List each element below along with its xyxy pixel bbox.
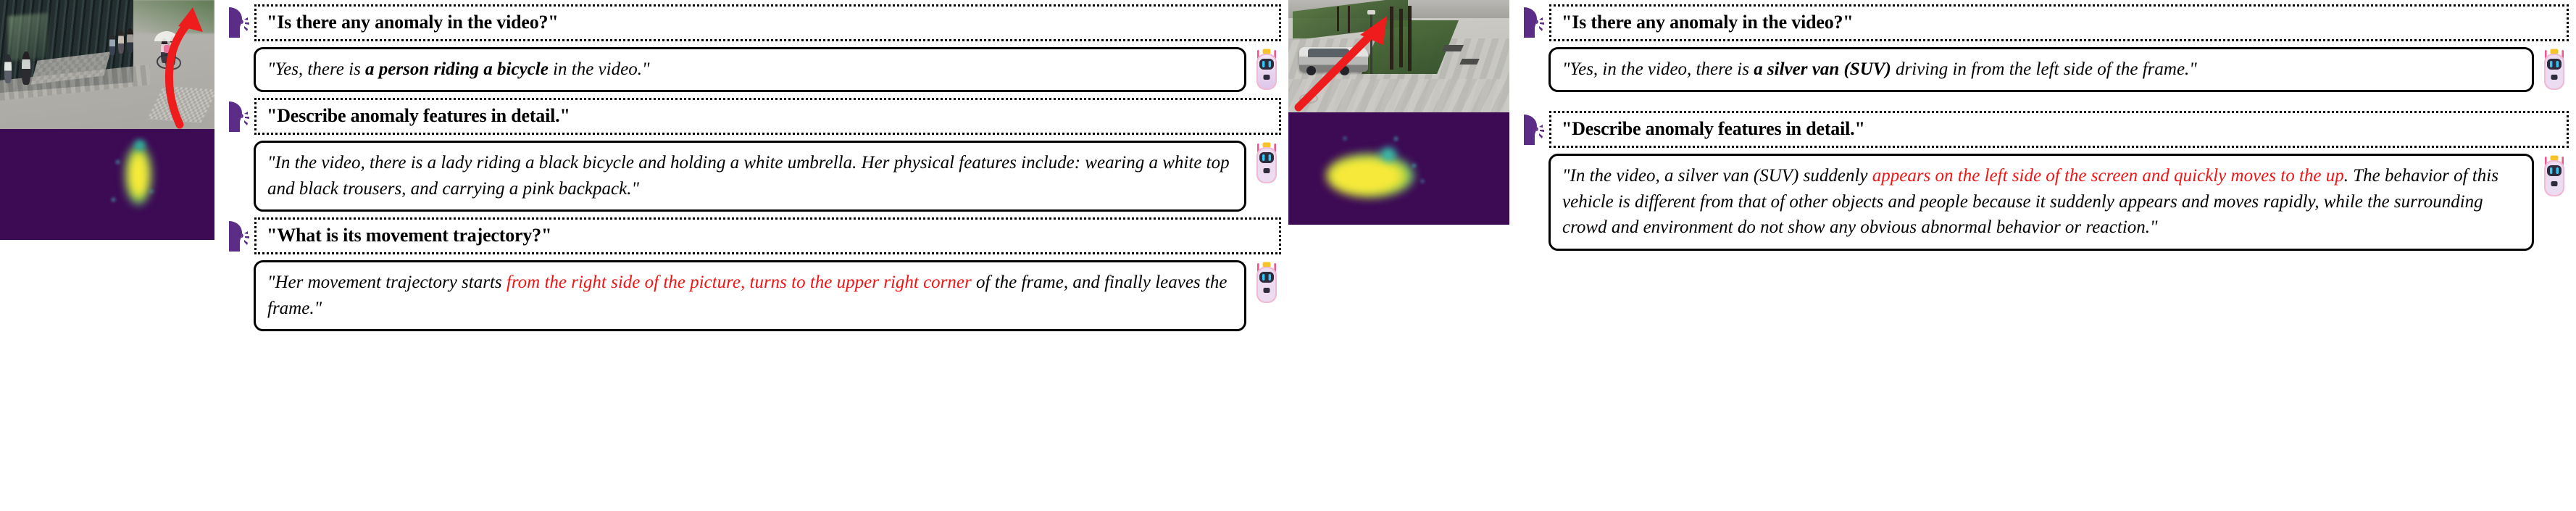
pedestrian xyxy=(118,30,124,54)
silver-suv xyxy=(1299,47,1368,72)
pink-backpack xyxy=(164,45,170,53)
answer-text-plain: "In the video, a silver van (SUV) sudden… xyxy=(1562,166,1872,186)
scene-sky xyxy=(129,0,214,33)
question-bubble[interactable]: "Is there any anomaly in the video?" xyxy=(1549,4,2569,41)
conversation-left: "Is there any anomaly in the video?" "Ye… xyxy=(214,0,1288,331)
robot-icon xyxy=(2540,47,2569,92)
robot-icon xyxy=(2540,154,2569,199)
tree-trunk xyxy=(1348,6,1350,33)
video-frame-left xyxy=(0,0,214,129)
answer-text-highlight: appears on the left side of the screen a… xyxy=(1872,166,2344,186)
bench xyxy=(1441,45,1463,51)
heatmap-secondary-spot xyxy=(1379,146,1398,162)
scene-kerb-pattern xyxy=(147,86,214,123)
speaking-head-icon xyxy=(225,6,249,39)
question-bubble[interactable]: "Describe anomaly features in detail." xyxy=(1549,111,2569,148)
pedestrian xyxy=(127,28,133,53)
dialogue-turn-assistant: "Her movement trajectory starts from the… xyxy=(225,260,1281,331)
pedestrian xyxy=(109,33,115,55)
answer-bubble[interactable]: "In the video, a silver van (SUV) sudden… xyxy=(1548,154,2534,251)
bench xyxy=(1459,59,1480,65)
speaking-head-icon xyxy=(225,220,249,253)
answer-text-plain: "Yes, in the video, there is xyxy=(1562,59,1754,79)
heatmap-hotspot xyxy=(125,144,152,205)
tree-trunk xyxy=(1408,6,1412,71)
anomaly-heatmap-left xyxy=(0,129,214,240)
heatmap-speckle xyxy=(112,198,115,202)
question-bubble[interactable]: "What is its movement trajectory?" xyxy=(254,217,1281,254)
answer-bubble[interactable]: "In the video, there is a lady riding a … xyxy=(254,141,1246,212)
dialogue-turn-user: "Describe anomaly features in detail." xyxy=(1520,111,2569,148)
video-frame-right xyxy=(1288,0,1509,112)
conversation-right: "Is there any anomaly in the video?" "Ye… xyxy=(1509,0,2576,251)
answer-bubble[interactable]: "Her movement trajectory starts from the… xyxy=(254,260,1246,331)
bicycle-wheel xyxy=(165,57,181,70)
cctv-scene-left xyxy=(0,0,214,129)
answer-text-emphasis: a silver van (SUV) xyxy=(1754,59,1891,79)
dialogue-turn-assistant: "In the video, a silver van (SUV) sudden… xyxy=(1520,154,2569,251)
manhole-cover xyxy=(1299,94,1318,104)
answer-text-plain: "Yes, there is xyxy=(267,59,365,79)
spacer xyxy=(1520,98,2569,105)
pedestrian xyxy=(22,51,30,85)
answer-text-plain: in the video." xyxy=(549,59,650,79)
dialogue-turn-user: "Describe anomaly features in detail." xyxy=(225,98,1281,135)
dialogue-turn-assistant: "Yes, there is a person riding a bicycle… xyxy=(225,47,1281,93)
pedestrian xyxy=(4,54,12,83)
scene-paving-foreground xyxy=(1288,79,1509,113)
lamp-post xyxy=(1370,14,1372,75)
speaking-head-icon xyxy=(1520,113,1544,146)
answer-text-emphasis: a person riding a bicycle xyxy=(365,59,549,79)
tree-trunk xyxy=(1399,9,1403,67)
answer-text-plain: "Her movement trajectory starts xyxy=(267,273,507,292)
anomaly-heatmap-right xyxy=(1288,112,1509,225)
answer-text-plain: "In the video, there is a lady riding a … xyxy=(267,153,1230,199)
answer-bubble[interactable]: "Yes, there is a person riding a bicycle… xyxy=(254,47,1246,93)
dialogue-turn-user: "Is there any anomaly in the video?" xyxy=(225,4,1281,41)
answer-bubble[interactable]: "Yes, in the video, there is a silver va… xyxy=(1548,47,2534,93)
panel-left: "Is there any anomaly in the video?" "Ye… xyxy=(0,0,1288,511)
robot-icon xyxy=(1252,141,1281,186)
dialogue-turn-assistant: "In the video, there is a lady riding a … xyxy=(225,141,1281,212)
cctv-scene-right xyxy=(1288,0,1509,112)
heatmap-speckle xyxy=(116,160,120,164)
speaking-head-icon xyxy=(225,100,249,133)
answer-text-highlight: from the right side of the picture, turn… xyxy=(507,273,972,292)
panel-right: "Is there any anomaly in the video?" "Ye… xyxy=(1288,0,2576,511)
heatmap-speckle xyxy=(1421,180,1424,183)
robot-icon xyxy=(1252,47,1281,92)
heatmap-speckle xyxy=(1394,137,1398,141)
figure-root: "Is there any anomaly in the video?" "Ye… xyxy=(0,0,2576,511)
heatmap-speckle xyxy=(1412,164,1416,167)
heatmap-speckle xyxy=(1343,137,1346,140)
heatmap-secondary-spot xyxy=(133,139,146,151)
dialogue-turn-assistant: "Yes, in the video, there is a silver va… xyxy=(1520,47,2569,93)
answer-text-plain: driving in from the left side of the fra… xyxy=(1891,59,2197,79)
robot-icon xyxy=(1252,260,1281,305)
media-column-left xyxy=(0,0,214,240)
white-umbrella xyxy=(154,31,179,41)
speaking-head-icon xyxy=(1520,6,1544,39)
dialogue-turn-user: "Is there any anomaly in the video?" xyxy=(1520,4,2569,41)
question-bubble[interactable]: "Describe anomaly features in detail." xyxy=(254,98,1281,135)
heatmap-hotspot xyxy=(1326,153,1414,198)
dialogue-turn-user: "What is its movement trajectory?" xyxy=(225,217,1281,254)
tree-trunk xyxy=(1390,7,1393,70)
question-bubble[interactable]: "Is there any anomaly in the video?" xyxy=(254,4,1281,41)
media-column-right xyxy=(1288,0,1509,225)
heatmap-speckle xyxy=(150,190,153,193)
tree-trunk xyxy=(1337,7,1339,31)
